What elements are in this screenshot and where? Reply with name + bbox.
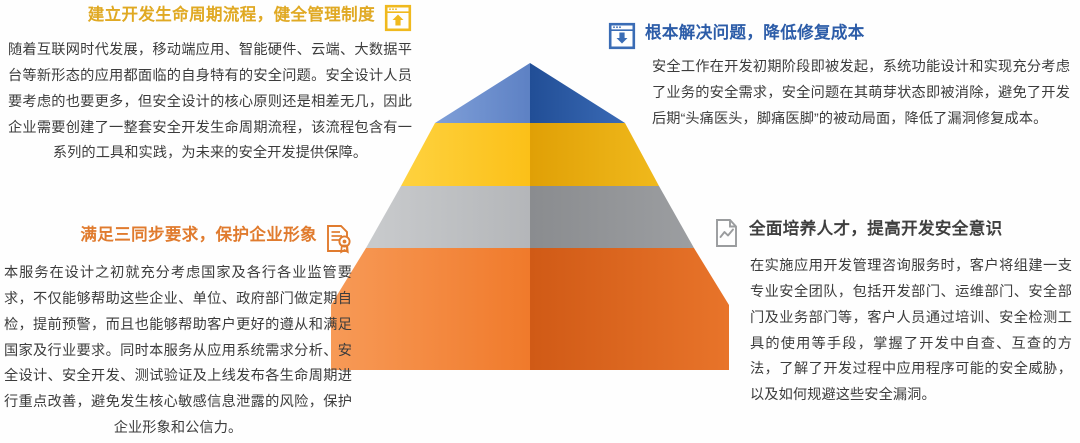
pyramid-layer-gray: [366, 186, 694, 248]
pyramid-layer-blue: [435, 63, 625, 123]
pyramid-layer-orange: [331, 248, 729, 370]
panel-top-left-header: 建立开发生命周期流程，健全管理制度: [8, 4, 412, 32]
panel-top-right: 根本解决问题，降低修复成本 安全工作在开发初期阶段即被发起，系统功能设计和实现充…: [608, 22, 1070, 133]
panel-bottom-left-headline: 满足三同步要求，保护企业形象: [80, 224, 317, 246]
window-up-arrow-icon: [384, 4, 412, 32]
panel-top-left: 建立开发生命周期流程，健全管理制度 随着互联网时代发展，移动端应用、智能硬件、云…: [8, 4, 412, 167]
panel-top-right-body: 安全工作在开发初期阶段即被发起，系统功能设计和实现充分考虑了业务的安全需求，安全…: [652, 55, 1070, 133]
panel-top-right-body-wrap: 安全工作在开发初期阶段即被发起，系统功能设计和实现充分考虑了业务的安全需求，安全…: [652, 55, 1070, 133]
panel-top-left-headline: 建立开发生命周期流程，健全管理制度: [88, 4, 375, 26]
panel-bottom-right: 全面培养人才，提高开发安全意识 在实施应用开发管理咨询服务时，客户将组建一支专业…: [714, 218, 1072, 409]
panel-bottom-right-body: 在实施应用开发管理咨询服务时，客户将组建一支专业安全团队，包括开发部门、运维部门…: [750, 254, 1072, 409]
panel-bottom-left-header: 满足三同步要求，保护企业形象: [4, 224, 352, 254]
certificate-seal-icon: [326, 224, 352, 254]
infographic-canvas: 建立开发生命周期流程，健全管理制度 随着互联网时代发展，移动端应用、智能硬件、云…: [0, 0, 1080, 443]
panel-top-right-headline: 根本解决问题，降低修复成本: [645, 22, 865, 44]
window-down-arrow-icon: [608, 22, 636, 50]
panel-bottom-right-body-wrap: 在实施应用开发管理咨询服务时，客户将组建一支专业安全团队，包括开发部门、运维部门…: [750, 254, 1072, 409]
panel-bottom-right-headline: 全面培养人才，提高开发安全意识: [749, 218, 1003, 240]
panel-bottom-left-body: 本服务在设计之初就充分考虑国家及各行各业监管要求，不仅能够帮助这些企业、单位、政…: [4, 261, 352, 442]
panel-top-right-header: 根本解决问题，降低修复成本: [608, 22, 1070, 50]
panel-bottom-right-header: 全面培养人才，提高开发安全意识: [714, 218, 1072, 248]
document-chart-icon: [714, 218, 740, 248]
panel-top-left-body: 随着互联网时代发展，移动端应用、智能硬件、云端、大数据平台等新形态的应用都面临的…: [8, 38, 412, 167]
panel-bottom-left: 满足三同步要求，保护企业形象 本服务在设计之初就充分考虑国家及各行各业监管要求，…: [4, 224, 352, 442]
